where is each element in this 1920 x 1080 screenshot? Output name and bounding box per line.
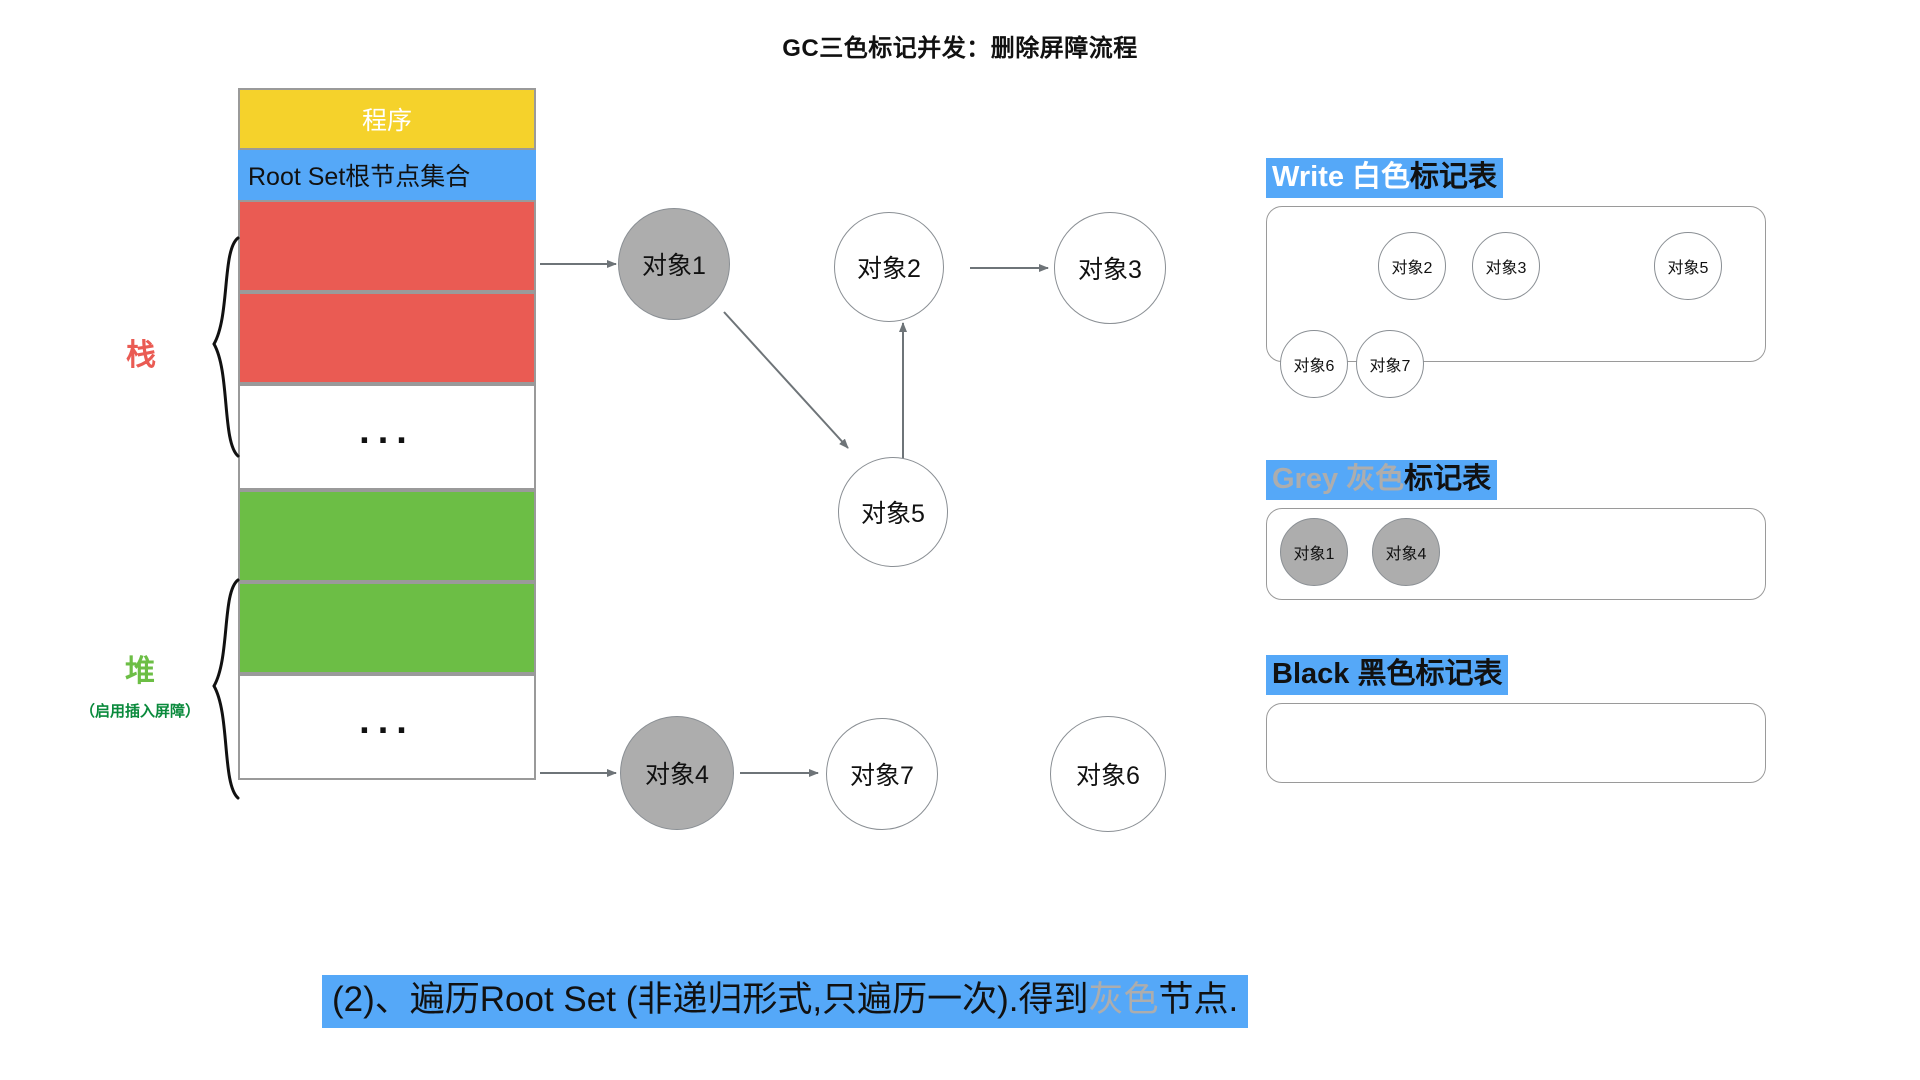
heap-label: 堆 (70, 646, 210, 690)
memory-cell-rootset: Root Set根节点集合 (238, 150, 536, 200)
caption-part1: (2)、遍历Root Set (非递归形式,只遍历一次).得到 (332, 980, 1088, 1019)
memory-cell-program: 程序 (238, 88, 536, 150)
edge-obj1-to-obj5 (724, 312, 848, 448)
graph-node-label: 对象6 (1076, 756, 1140, 792)
heap-sub-label: （启用插入屏障） (40, 700, 240, 721)
mark-chip-label: 对象3 (1486, 254, 1527, 278)
memory-cell-stack-ellipsis: ... (238, 384, 536, 490)
graph-node-label: 对象3 (1078, 250, 1142, 286)
mark-chip-obj2[interactable]: 对象2 (1378, 232, 1446, 300)
mark-chip-obj5[interactable]: 对象5 (1654, 232, 1722, 300)
memory-cell-stack-slot-1 (238, 200, 536, 292)
graph-node-label: 对象4 (645, 755, 709, 791)
mark-table-black-box (1266, 703, 1766, 783)
graph-node-label: 对象5 (861, 494, 925, 530)
mark-chip-obj4[interactable]: 对象4 (1372, 518, 1440, 586)
mark-chip-label: 对象4 (1386, 540, 1427, 564)
graph-node-obj7[interactable]: 对象7 (826, 718, 938, 830)
ellipsis-stack: ... (359, 412, 415, 450)
caption-part2: 节点. (1158, 980, 1238, 1019)
mark-chip-obj3[interactable]: 对象3 (1472, 232, 1540, 300)
memory-cell-heap-ellipsis: ... (238, 674, 536, 780)
mark-chip-label: 对象1 (1294, 540, 1335, 564)
stack-label: 栈 (96, 330, 186, 374)
caption-highlight: 灰色 (1088, 980, 1158, 1019)
page-title: GC三色标记并发：删除屏障流程 (0, 28, 1920, 63)
mark-table-grey-title: Grey 灰色标记表 (1266, 460, 1497, 500)
mark-table-black-title-prefix: Black 黑色 (1272, 658, 1415, 690)
mark-table-white-title-suffix: 标记表 (1410, 161, 1497, 193)
mark-chip-obj1[interactable]: 对象1 (1280, 518, 1348, 586)
rootset-label: Root Set根节点集合 (248, 157, 470, 193)
graph-node-label: 对象1 (642, 246, 706, 282)
diagram-canvas: GC三色标记并发：删除屏障流程 程序 Root Set根节点集合 ... ...… (0, 0, 1920, 1080)
mark-table-grey-title-suffix: 标记表 (1404, 463, 1491, 495)
graph-node-obj3[interactable]: 对象3 (1054, 212, 1166, 324)
memory-column: 程序 Root Set根节点集合 ... ... (238, 88, 536, 780)
memory-cell-heap-slot-2 (238, 582, 536, 674)
graph-node-obj6[interactable]: 对象6 (1050, 716, 1166, 832)
graph-node-obj1[interactable]: 对象1 (618, 208, 730, 320)
mark-chip-obj6[interactable]: 对象6 (1280, 330, 1348, 398)
memory-cell-heap-slot-1 (238, 490, 536, 582)
graph-node-label: 对象7 (850, 756, 914, 792)
graph-node-obj2[interactable]: 对象2 (834, 212, 944, 322)
mark-table-white-title: Write 白色标记表 (1266, 158, 1503, 198)
mark-chip-label: 对象7 (1370, 352, 1411, 376)
mark-table-white-title-prefix: Write 白色 (1272, 161, 1410, 193)
mark-table-black-title: Black 黑色标记表 (1266, 655, 1508, 695)
mark-chip-label: 对象5 (1668, 254, 1709, 278)
mark-table-black-title-suffix: 标记表 (1415, 658, 1502, 690)
mark-chip-obj7[interactable]: 对象7 (1356, 330, 1424, 398)
stack-brace (200, 236, 244, 458)
graph-node-label: 对象2 (857, 249, 921, 285)
ellipsis-heap: ... (359, 702, 415, 740)
mark-table-grey-title-prefix: Grey 灰色 (1272, 463, 1404, 495)
mark-chip-label: 对象2 (1392, 254, 1433, 278)
graph-node-obj4[interactable]: 对象4 (620, 716, 734, 830)
memory-cell-stack-slot-2 (238, 292, 536, 384)
step-caption: (2)、遍历Root Set (非递归形式,只遍历一次).得到灰色节点. (322, 975, 1248, 1028)
program-label: 程序 (362, 101, 412, 137)
mark-chip-label: 对象6 (1294, 352, 1335, 376)
graph-node-obj5[interactable]: 对象5 (838, 457, 948, 567)
